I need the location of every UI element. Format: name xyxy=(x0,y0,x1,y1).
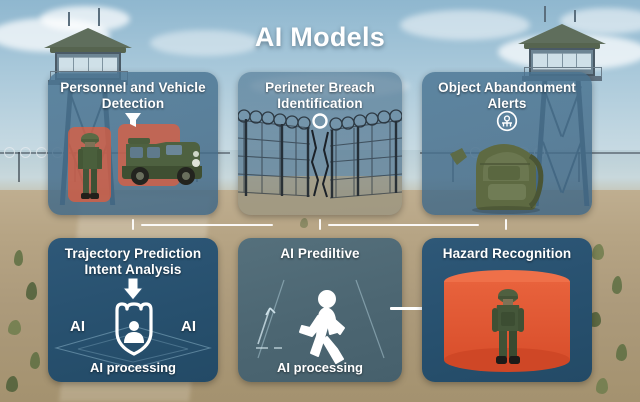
down-arrow-icon xyxy=(121,278,145,300)
connector-tick-left xyxy=(132,219,134,230)
connector-tick-right xyxy=(505,219,507,230)
card-footer-ai-predictive: AI processing xyxy=(238,360,402,375)
infographic-canvas: AI Models xyxy=(0,0,640,402)
connector-tick-center xyxy=(319,219,321,230)
armored-vehicle-figure xyxy=(116,130,208,186)
card-perimeter-breach-identification[interactable]: Perineter Breach Identification xyxy=(238,72,402,215)
card-hazard-recognition[interactable]: Hazard Recognition xyxy=(422,238,592,382)
card-ai-predictive[interactable]: AI Prediltive AI processing xyxy=(238,238,402,382)
bounding-box-marker-icon xyxy=(124,112,142,128)
razor-wire-coil xyxy=(4,147,15,158)
shield-person-icon xyxy=(111,300,157,356)
abandoned-backpack-figure xyxy=(444,130,572,214)
circle-marker-icon xyxy=(311,112,329,130)
card-footer-trajectory-prediction: AI processing xyxy=(48,360,218,375)
ai-label-left: AI xyxy=(70,318,85,335)
connector-line-left xyxy=(141,224,273,226)
flow-arrow-line xyxy=(390,307,426,310)
abandoned-object-badge-icon xyxy=(496,110,518,132)
walking-person-icon xyxy=(296,290,350,364)
fence-post xyxy=(18,152,20,182)
card-object-abandonment-alerts[interactable]: Object Abandonment Alerts xyxy=(422,72,592,215)
soldier-figure xyxy=(72,130,108,202)
card-title-hazard-recognition: Hazard Recognition xyxy=(422,246,592,262)
card-title-object-abandonment-alerts: Object Abandonment Alerts xyxy=(422,80,592,111)
card-title-perimeter-breach-identification: Perineter Breach Identification xyxy=(238,80,402,111)
card-title-trajectory-prediction: Trajectory Prediction Intent Analysis xyxy=(48,246,218,277)
card-personnel-vehicle-detection[interactable]: Personnel and Vehicle Detection xyxy=(48,72,218,215)
ai-label-right: AI xyxy=(181,318,196,335)
card-title-personnel-vehicle-detection: Personnel and Vehicle Detection xyxy=(48,80,218,111)
card-trajectory-prediction[interactable]: AI AI Trajectory Prediction Intent Analy… xyxy=(48,238,218,382)
page-title: AI Models xyxy=(0,22,640,53)
razor-wire-coil xyxy=(20,147,31,158)
connector-line-right xyxy=(328,224,479,226)
card-title-ai-predictive: AI Prediltive xyxy=(238,246,402,262)
soldier-in-hazard-zone-figure xyxy=(488,286,528,368)
